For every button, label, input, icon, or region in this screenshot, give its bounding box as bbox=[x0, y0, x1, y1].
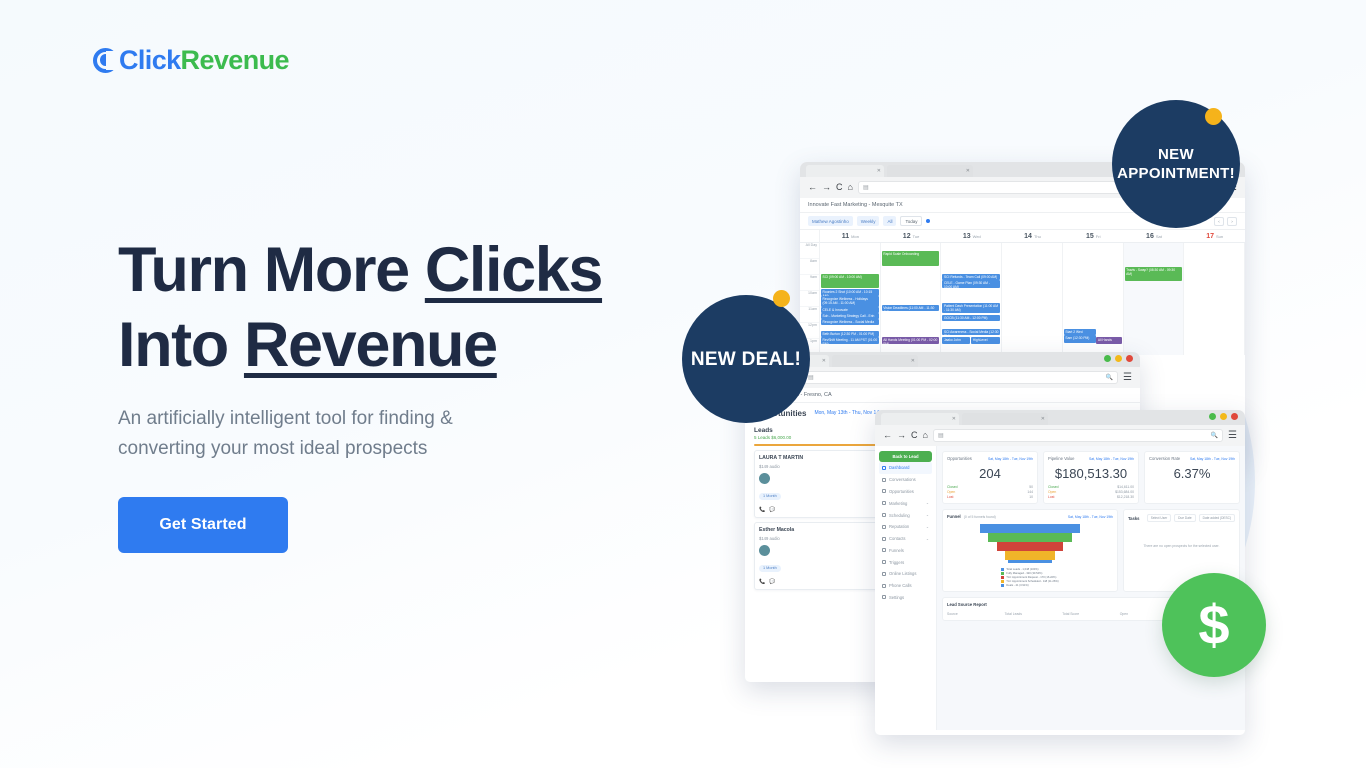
calendar-event[interactable]: Travis - Swap? (08:30 AM - 09:30 AM) bbox=[1125, 267, 1183, 281]
opportunities-date-range[interactable]: Mon, May 13th - Thu, Nov 14th bbox=[814, 410, 883, 416]
sidebar-item-marketing[interactable]: Marketing⌄ bbox=[879, 497, 932, 509]
hero-section: Turn More Clicks Into Revenue An artific… bbox=[118, 233, 638, 553]
headline-line2-plain: Into bbox=[118, 310, 244, 380]
funnel-legend-label: Deals - 41 (3.91%) bbox=[1006, 584, 1028, 587]
calendar-column[interactable] bbox=[1002, 243, 1063, 355]
funnel-stage-4 bbox=[1008, 560, 1052, 563]
tasks-filter-date-added[interactable]: Date added (DESC) bbox=[1199, 514, 1235, 522]
gear-icon bbox=[882, 595, 886, 599]
calendar-event[interactable]: CELE - Game Plan (09:30 AM - 10:00 AM) bbox=[942, 280, 1000, 288]
window-red-light[interactable] bbox=[1231, 413, 1238, 420]
chevron-down-icon: ⌄ bbox=[926, 501, 929, 505]
funnel-panel-title: Funnel(0 of 5 funnels found) bbox=[947, 514, 996, 519]
calendar-column[interactable]: SCI (09:00 AM - 10:00 AM) Roonies 2 Shot… bbox=[820, 243, 881, 355]
window-green-light[interactable] bbox=[1209, 413, 1216, 420]
sidebar-item-funnels[interactable]: Funnels bbox=[879, 544, 932, 556]
browser-tab[interactable]: ✕ bbox=[887, 165, 973, 177]
lead-tag: 1 Month bbox=[759, 565, 781, 572]
sidebar-item-scheduling[interactable]: Scheduling⌄ bbox=[879, 509, 932, 521]
address-bar[interactable]: ▤ 🔍 bbox=[803, 371, 1118, 384]
sidebar-item-label: Triggers bbox=[889, 560, 904, 565]
address-bar[interactable]: ▤ 🔍 bbox=[933, 429, 1223, 442]
calendar-event[interactable]: Roonies 2 Shot (10:00 AM - 10:15 AM) bbox=[821, 289, 879, 296]
opportunity-icon bbox=[882, 489, 886, 493]
browser-tab[interactable]: ✕ bbox=[806, 165, 884, 177]
browser-tab[interactable]: ✕ bbox=[881, 413, 959, 425]
funnel-legend-label: Total Leads - 1,048 (100%) bbox=[1006, 568, 1038, 571]
window-controls[interactable] bbox=[1104, 355, 1133, 362]
kpi-card-pipeline-value: Pipeline Value Sat, May 18th - Tue, Nov … bbox=[1043, 451, 1139, 504]
calendar-day-header: 11Mon bbox=[820, 230, 881, 242]
calendar-column[interactable]: Start 2 Wed Sam (12:30 PM) All Hands bbox=[1063, 243, 1124, 355]
calendar-column[interactable]: Travis - Swap? (08:30 AM - 09:30 AM) bbox=[1124, 243, 1185, 355]
calendar-event[interactable]: RevShift Meeting - 11 AM PST (01:00 PM) bbox=[821, 337, 879, 344]
home-icon[interactable]: ⌂ bbox=[848, 183, 853, 192]
calendar-event[interactable]: SCI Awareness - Social Media (12:30 PM) bbox=[942, 329, 1000, 335]
funnel-stage-2 bbox=[997, 542, 1063, 551]
kpi-label: Opportunities bbox=[947, 456, 972, 461]
sidebar-item-label: Dashboard bbox=[889, 465, 910, 470]
sidebar-item-conversations[interactable]: Conversations bbox=[879, 474, 932, 486]
tasks-filter-user[interactable]: Select User bbox=[1147, 514, 1171, 522]
leads-location-breadcrumb[interactable]: Scottsgh Med Spa - Fresno, CA bbox=[745, 388, 1140, 403]
funnel-meta: (0 of 5 funnels found) bbox=[964, 515, 996, 519]
back-arrow-icon[interactable]: ← bbox=[883, 431, 892, 440]
calendar-day-header: 16Sat bbox=[1124, 230, 1185, 242]
sidebar-item-opportunities[interactable]: Opportunities bbox=[879, 486, 932, 498]
search-icon[interactable]: 🔍 bbox=[1211, 432, 1218, 439]
page-document-icon: ▤ bbox=[863, 184, 869, 191]
back-to-lead-button[interactable]: Back to Lead bbox=[879, 451, 932, 462]
calendar-event[interactable]: Recognize Wellness - Holidays (09:15 AM … bbox=[821, 296, 879, 307]
calendar-day-header: 13Wed bbox=[941, 230, 1002, 242]
calendar-prev-icon[interactable]: ‹ bbox=[1214, 217, 1224, 226]
dashboard-sidebar: Back to Lead Dashboard Conversations Opp… bbox=[875, 446, 937, 730]
sidebar-item-label: Reputation bbox=[889, 524, 909, 529]
calendar-event[interactable]: All Hands Meeting (01:00 PM - 02:00 PM) bbox=[882, 337, 940, 344]
kpi-value: $180,513.30 bbox=[1048, 466, 1134, 481]
appointment-accent-dot-icon bbox=[1205, 108, 1222, 125]
window-green-light[interactable] bbox=[1104, 355, 1111, 362]
sidebar-item-label: Opportunities bbox=[889, 489, 914, 494]
calendar-filter-user[interactable]: Mathew Agostinho bbox=[808, 216, 853, 226]
logo-text-click: Click bbox=[119, 45, 181, 76]
sidebar-item-settings[interactable]: Settings bbox=[879, 592, 932, 604]
kpi-date-range[interactable]: Sat, May 18th - Tue, Nov 19th bbox=[988, 457, 1033, 461]
forward-arrow-icon[interactable]: → bbox=[822, 183, 831, 192]
calendar-event[interactable]: Jaako John bbox=[942, 337, 970, 344]
legend-label: Closed bbox=[1048, 485, 1059, 489]
sidebar-item-label: Phone Calls bbox=[889, 583, 912, 588]
lead-name: Esther Macola bbox=[759, 527, 794, 533]
headline-word-clicks: Clicks bbox=[425, 235, 602, 305]
window-yellow-light[interactable] bbox=[1220, 413, 1227, 420]
calendar-filter-view[interactable]: Weekly bbox=[857, 216, 880, 226]
funnel-icon bbox=[882, 548, 886, 552]
calendar-day-header: 12Tue bbox=[881, 230, 942, 242]
legend-label: Open bbox=[947, 490, 955, 494]
kpi-date-range[interactable]: Sat, May 18th - Tue, Nov 19th bbox=[1190, 457, 1235, 461]
dollar-icon: $ bbox=[1198, 597, 1229, 653]
calendar-grid[interactable]: All Day 8am 9am 10am 11am 12pm 1pm SCI (… bbox=[800, 243, 1245, 355]
kpi-value: 204 bbox=[947, 466, 1033, 481]
kpi-label: Conversion Rate bbox=[1149, 456, 1180, 461]
star-icon bbox=[882, 525, 886, 529]
calendar-filter-all[interactable]: All bbox=[883, 216, 896, 226]
browser-tab[interactable]: ✕ bbox=[832, 355, 918, 367]
funnel-stage-0 bbox=[980, 524, 1080, 533]
page-document-icon: ▤ bbox=[808, 374, 814, 381]
page-title: Turn More Clicks Into Revenue bbox=[118, 233, 638, 383]
sidebar-item-label: Marketing bbox=[889, 501, 907, 506]
dashboard-icon bbox=[882, 466, 886, 470]
browser-urlbar: ← → C ⌂ ▤ 🔍 ☰ bbox=[875, 425, 1245, 446]
calendar-event[interactable]: All Hands bbox=[1096, 337, 1121, 344]
new-deal-badge: NEW DEAL! bbox=[682, 295, 810, 423]
legend-label: Lost bbox=[1048, 495, 1054, 499]
deal-accent-dot-icon bbox=[773, 290, 790, 307]
phone-icon[interactable]: 📞 bbox=[759, 507, 765, 513]
funnel-chart-panel: Funnel(0 of 5 funnels found) Sat, May 18… bbox=[942, 509, 1118, 592]
tasks-panel-title: Tasks bbox=[1128, 516, 1140, 521]
column-header: Source bbox=[947, 612, 1005, 616]
contacts-icon bbox=[882, 537, 886, 541]
legend-value: $14,611.00 bbox=[1117, 485, 1134, 489]
sidebar-item-online-listings[interactable]: Online Listings bbox=[879, 568, 932, 580]
tasks-empty-state: There are no open prospects for the sele… bbox=[1128, 544, 1235, 548]
sidebar-item-triggers[interactable]: Triggers bbox=[879, 556, 932, 568]
reload-icon[interactable]: C bbox=[836, 183, 843, 192]
window-controls[interactable] bbox=[1209, 413, 1238, 420]
sidebar-item-phone-calls[interactable]: Phone Calls bbox=[879, 580, 932, 592]
brand-logo[interactable]: Click Revenue bbox=[93, 45, 289, 76]
funnel-stage-3 bbox=[1005, 551, 1055, 560]
calendar-column[interactable]: SCI Refunds - Team Call (09:00 AM) CELE … bbox=[941, 243, 1002, 355]
legend-value: 144 bbox=[1027, 490, 1033, 494]
funnel-label: Funnel bbox=[947, 514, 961, 519]
lead-meta: $149 audio bbox=[759, 536, 780, 541]
funnel-legend: Total Leads - 1,048 (100%) Fully Managed… bbox=[1001, 567, 1058, 587]
chevron-down-icon: ⌄ bbox=[926, 513, 929, 517]
kpi-date-range[interactable]: Sat, May 18th - Tue, Nov 19th bbox=[1089, 457, 1134, 461]
home-icon[interactable]: ⌂ bbox=[923, 431, 928, 440]
calendar-event[interactable]: Rapid Scale Onboarding bbox=[882, 251, 940, 266]
tasks-filters: Select User Due Date Date added (DESC) bbox=[1147, 514, 1235, 522]
avatar bbox=[759, 545, 770, 556]
calendar-nav[interactable]: ‹ › bbox=[1214, 217, 1237, 226]
calendar-event[interactable]: HighLevel bbox=[971, 337, 1000, 344]
calendar-event[interactable]: Vision Deadlines (11:00 AM - 11:30 AM) bbox=[882, 305, 940, 311]
sidebar-item-label: Contacts bbox=[889, 536, 906, 541]
kpi-row: Opportunities Sat, May 18th - Tue, Nov 1… bbox=[942, 451, 1240, 504]
calendar-status-dot-icon bbox=[926, 219, 930, 223]
sidebar-item-contacts[interactable]: Contacts⌄ bbox=[879, 533, 932, 545]
calendar-today-button[interactable]: Today bbox=[900, 216, 922, 226]
funnel-legend-label: TLC Appointment Request - 170 (16.22%) bbox=[1006, 576, 1056, 579]
calendar-day-header-today: 17Sun bbox=[1184, 230, 1245, 242]
kpi-card-conversion-rate: Conversion Rate Sat, May 18th - Tue, Nov… bbox=[1144, 451, 1240, 504]
legend-value: $153,684.00 bbox=[1115, 490, 1134, 494]
dollar-badge: $ bbox=[1162, 573, 1266, 677]
headline-word-revenue: Revenue bbox=[244, 310, 497, 380]
chat-icon[interactable]: 💬 bbox=[769, 507, 775, 513]
calendar-event[interactable]: Sam (12:30 PM) bbox=[1064, 335, 1096, 343]
dashboard-browser-window: ✕ ✕ ← → C ⌂ ▤ 🔍 ☰ bbox=[875, 410, 1245, 735]
sidebar-item-label: Funnels bbox=[889, 548, 904, 553]
calendar-event[interactable]: SCI (09:00 AM - 10:00 AM) bbox=[821, 274, 879, 288]
legend-label: Open bbox=[1048, 490, 1056, 494]
sidebar-item-label: Scheduling bbox=[889, 513, 910, 518]
sidebar-item-label: Online Listings bbox=[889, 571, 916, 576]
lead-meta: $149 audio bbox=[759, 464, 780, 469]
reload-icon[interactable]: C bbox=[911, 431, 918, 440]
phone-icon bbox=[882, 584, 886, 588]
legend-label: Closed bbox=[947, 485, 958, 489]
funnel-date-range[interactable]: Sat, May 18th - Tue, Nov 19th bbox=[1068, 515, 1113, 519]
search-icon[interactable]: 🔍 bbox=[1106, 374, 1113, 381]
marketing-icon bbox=[882, 501, 886, 505]
listings-icon bbox=[882, 572, 886, 576]
menu-hamburger-icon[interactable]: ☰ bbox=[1123, 373, 1132, 383]
chevron-down-icon: ⌄ bbox=[926, 537, 929, 541]
sidebar-item-reputation[interactable]: Reputation⌄ bbox=[879, 521, 932, 533]
calendar-event[interactable]: GOCB (11:30 AM - 12:00 PM) bbox=[942, 315, 1000, 321]
column-header: Total Leads bbox=[1005, 612, 1063, 616]
calendar-next-icon[interactable]: › bbox=[1227, 217, 1237, 226]
sidebar-item-label: Settings bbox=[889, 595, 904, 600]
menu-hamburger-icon[interactable]: ☰ bbox=[1228, 431, 1237, 441]
funnel-legend-label: TLC Appointment Scheduled - 118 (11.26%) bbox=[1006, 580, 1058, 583]
lead-tag: 1 Month bbox=[759, 493, 781, 500]
legend-value: 50 bbox=[1029, 485, 1033, 489]
logo-text-revenue: Revenue bbox=[181, 45, 289, 76]
product-illustration: ✕ ✕ ← → C ⌂ ▤ 🔍 ☰ Innovate bbox=[640, 80, 1366, 700]
chevron-down-icon: ⌄ bbox=[926, 525, 929, 529]
calendar-event[interactable]: Patient Dash Presentation (11:00 AM - 11… bbox=[942, 303, 1000, 313]
sidebar-item-label: Conversations bbox=[889, 477, 916, 482]
calendar-icon bbox=[882, 513, 886, 517]
lead-name: LAURA T MARTIN bbox=[759, 455, 803, 461]
column-header: Total Score bbox=[1062, 612, 1120, 616]
calendar-day-header: 14Thu bbox=[1002, 230, 1063, 242]
window-red-light[interactable] bbox=[1126, 355, 1133, 362]
calendar-day-header: 15Fri bbox=[1063, 230, 1124, 242]
landing-page: Click Revenue Turn More Clicks Into Reve… bbox=[0, 0, 1366, 768]
kpi-card-opportunities: Opportunities Sat, May 18th - Tue, Nov 1… bbox=[942, 451, 1038, 504]
calendar-column[interactable]: Rapid Scale Onboarding Vision Deadlines … bbox=[881, 243, 942, 355]
hero-subheading: An artificially intelligent tool for fin… bbox=[118, 404, 508, 464]
legend-value: $12,218.30 bbox=[1117, 495, 1134, 499]
legend-value: 10 bbox=[1029, 495, 1033, 499]
back-arrow-icon[interactable]: ← bbox=[808, 183, 817, 192]
headline-line1-plain: Turn More bbox=[118, 235, 425, 305]
tasks-filter-due-date[interactable]: Due Date bbox=[1174, 514, 1195, 522]
calendar-day-headers: 11Mon 12Tue 13Wed 14Thu 15Fri 16Sat 17Su… bbox=[800, 230, 1245, 243]
window-yellow-light[interactable] bbox=[1115, 355, 1122, 362]
phone-icon[interactable]: 📞 bbox=[759, 579, 765, 585]
funnel-stage-1 bbox=[988, 533, 1072, 542]
get-started-button[interactable]: Get Started bbox=[118, 497, 288, 553]
click-cursor-circle-icon bbox=[93, 48, 118, 73]
page-document-icon: ▤ bbox=[938, 432, 944, 439]
funnel-chart: Total Leads - 1,048 (100%) Fully Managed… bbox=[947, 524, 1113, 587]
chat-icon bbox=[882, 478, 886, 482]
calendar-column[interactable] bbox=[1184, 243, 1245, 355]
browser-tabbar: ✕ ✕ bbox=[875, 410, 1245, 425]
legend-label: Lost bbox=[947, 495, 953, 499]
forward-arrow-icon[interactable]: → bbox=[897, 431, 906, 440]
funnel-legend-label: Fully Managed - 320 (30.54%) bbox=[1006, 572, 1042, 575]
kpi-label: Pipeline Value bbox=[1048, 456, 1074, 461]
kpi-legend: Closed$14,611.00 Open$153,684.00 Lost$12… bbox=[1048, 485, 1134, 499]
chat-icon[interactable]: 💬 bbox=[769, 579, 775, 585]
kpi-value: 6.37% bbox=[1149, 466, 1235, 481]
kpi-legend: Closed50 Open144 Lost10 bbox=[947, 485, 1033, 499]
browser-tab[interactable]: ✕ bbox=[962, 413, 1048, 425]
trigger-icon bbox=[882, 560, 886, 564]
avatar bbox=[759, 473, 770, 484]
calendar-event[interactable]: Recognize Wellness - Social Media bbox=[821, 319, 879, 325]
sidebar-item-dashboard[interactable]: Dashboard bbox=[879, 462, 932, 474]
